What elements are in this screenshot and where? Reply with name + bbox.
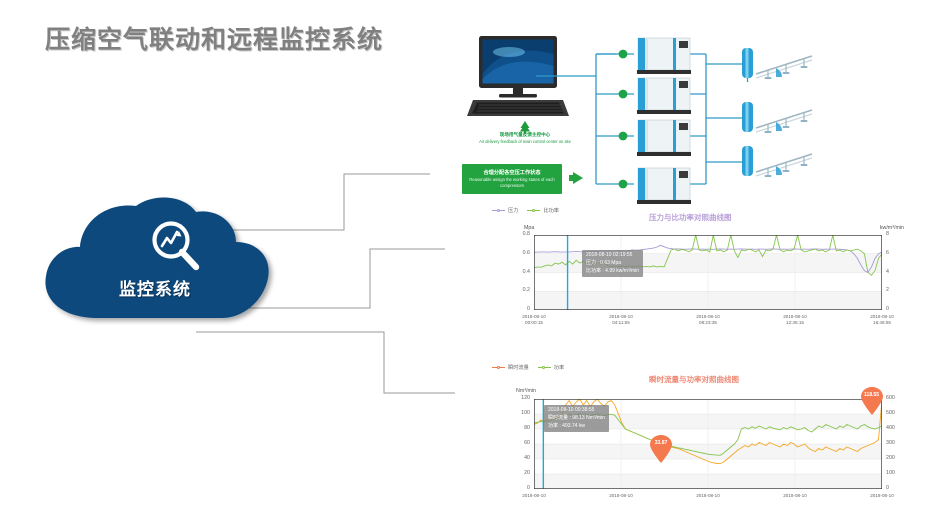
chart-annotation-pin[interactable]: 33.87	[650, 435, 672, 463]
y-tick-label: 0.2	[498, 287, 530, 293]
x-tick-label: 2018-08-1004:11:55	[595, 314, 647, 326]
legend-label: 功率	[554, 364, 564, 371]
y-tick-label: 0	[498, 306, 530, 312]
chart-title: 瞬时流量与功率对照曲线图	[649, 374, 739, 385]
y2-tick-label: 4	[886, 269, 908, 275]
annotation-label: 118.55	[861, 392, 883, 398]
legend-label: 压力	[508, 207, 518, 214]
tooltip-row: 功率 : 493.74 kw	[548, 423, 605, 431]
legend-marker-icon	[492, 365, 505, 370]
cloud-label: 监控系统	[36, 275, 274, 300]
legend-item[interactable]: 功率	[538, 364, 564, 371]
legend-marker-icon	[492, 208, 505, 213]
x-tick-label: 2018-08-10	[856, 493, 908, 499]
magnifier-chart-icon	[144, 216, 208, 276]
legend-item[interactable]: 瞬时流量	[492, 364, 529, 371]
legend-item[interactable]: 比功率	[527, 207, 559, 214]
y-tick-label: 60	[498, 440, 530, 446]
chart-tooltip: 2018-08-10 02:19:55压力 : 0.63 Mpa比功率 : 4.…	[582, 250, 643, 277]
chart-legend[interactable]: 瞬时流量功率	[492, 364, 564, 371]
x-tick-label: 2018-08-10	[769, 493, 821, 499]
flow-power-chart-panel[interactable]: 瞬时流量功率 瞬时流量与功率对照曲线图 Nm³/min 120100806040…	[486, 362, 906, 522]
y2-tick-label: 400	[886, 425, 908, 431]
y-tick-label: 40	[498, 455, 530, 461]
legend-marker-icon	[527, 208, 540, 213]
y2-tick-label: 600	[886, 395, 908, 401]
y-axis-unit-left: Nm³/min	[516, 388, 536, 394]
tooltip-time: 2018-08-10 00:38:55	[548, 407, 605, 415]
y2-tick-label: 2	[886, 287, 908, 293]
y-tick-label: 20	[498, 470, 530, 476]
y-tick-label: 0	[498, 485, 530, 491]
tooltip-row: 瞬时流量 : 98.13 Nm³/min	[548, 415, 605, 423]
y2-tick-label: 0	[886, 306, 908, 312]
x-tick-label: 2018-08-1000:00:15	[508, 314, 560, 326]
y-tick-label: 0.8	[498, 231, 530, 237]
system-diagram-panel: 现场用气量反馈主控中心 Air delivery feedback of mai…	[430, 14, 940, 204]
y2-tick-label: 8	[886, 231, 908, 237]
y-tick-label: 0.4	[498, 269, 530, 275]
y-tick-label: 0.6	[498, 250, 530, 256]
x-tick-label: 2018-08-10	[595, 493, 647, 499]
legend-label: 比功率	[543, 207, 559, 214]
legend-item[interactable]: 压力	[492, 207, 518, 214]
y2-tick-label: 300	[886, 440, 908, 446]
piping-schematic	[430, 14, 940, 204]
x-tick-label: 2018-08-1008:23:35	[682, 314, 734, 326]
y-tick-label: 100	[498, 410, 530, 416]
monitoring-cloud[interactable]: 监控系统	[36, 190, 286, 330]
y2-tick-label: 500	[886, 410, 908, 416]
y2-tick-label: 0	[886, 485, 908, 491]
tooltip-row: 压力 : 0.63 Mpa	[586, 260, 639, 268]
chart-tooltip: 2018-08-10 00:38:55瞬时流量 : 98.13 Nm³/min功…	[544, 405, 609, 432]
legend-marker-icon	[538, 365, 551, 370]
chart-title: 压力与比功率对照曲线图	[649, 212, 732, 223]
y2-tick-label: 100	[886, 470, 908, 476]
y-tick-label: 80	[498, 425, 530, 431]
chart-legend[interactable]: 压力比功率	[492, 207, 559, 214]
x-tick-label: 2018-08-1012:35:15	[769, 314, 821, 326]
y2-tick-label: 6	[886, 250, 908, 256]
chart-annotation-pin[interactable]: 118.55	[861, 387, 883, 415]
x-tick-label: 2018-08-10	[508, 493, 560, 499]
pressure-power-chart-panel[interactable]: 压力比功率 压力与比功率对照曲线图 Mpa kw/m³/min 0.80.60.…	[486, 205, 906, 335]
y-tick-label: 120	[498, 395, 530, 401]
tooltip-row: 比功率 : 4.99 kw/m³/min	[586, 268, 639, 276]
y2-tick-label: 200	[886, 455, 908, 461]
x-tick-label: 2018-08-1016:46:55	[856, 314, 908, 326]
page-title: 压缩空气联动和远程监控系统	[45, 20, 383, 56]
slide-canvas: 压缩空气联动和远程监控系统 监控系统	[0, 0, 945, 529]
legend-label: 瞬时流量	[508, 364, 529, 371]
x-tick-label: 2018-08-10	[682, 493, 734, 499]
annotation-label: 33.87	[650, 440, 672, 446]
tooltip-time: 2018-08-10 02:19:55	[586, 252, 639, 260]
